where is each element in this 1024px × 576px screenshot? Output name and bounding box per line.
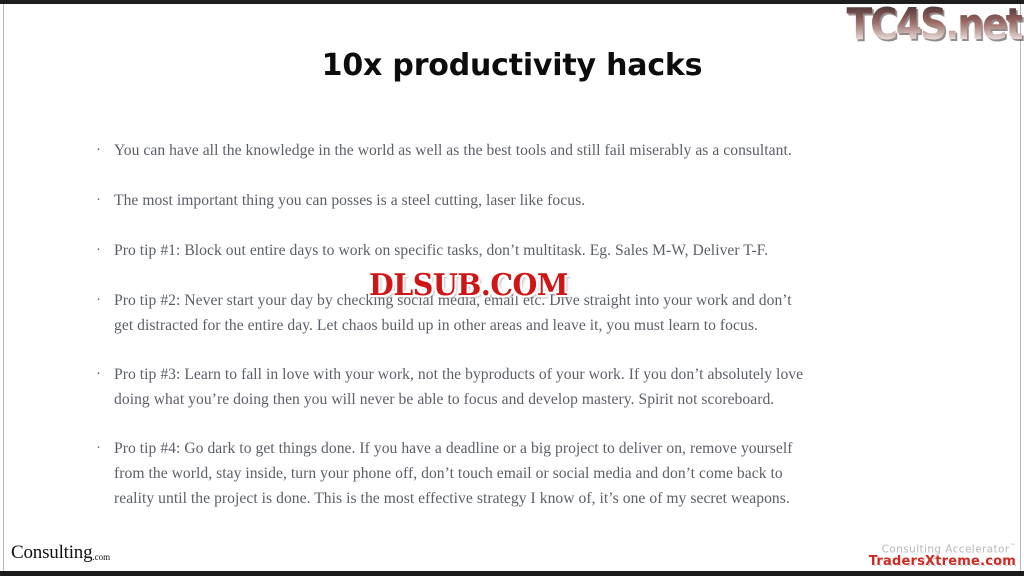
tc4s-watermark: TC4S.net xyxy=(847,2,1022,48)
list-item: · The most important thing you can posse… xyxy=(96,188,936,213)
consulting-dot-com-logo: Consulting.com xyxy=(11,542,110,564)
list-item: · Pro tip #1: Block out entire days to w… xyxy=(96,238,936,263)
presentation-slide: 10x productivity hacks · You can have al… xyxy=(0,0,1024,576)
bullet-dot-icon: · xyxy=(96,138,114,163)
bullet-list: · You can have all the knowledge in the … xyxy=(96,138,936,511)
list-item-text: The most important thing you can posses … xyxy=(114,188,936,213)
slide-left-rule xyxy=(3,4,4,571)
list-item: · Pro tip #3: Learn to fall in love with… xyxy=(96,362,936,412)
list-item-text: Pro tip #1: Block out entire days to wor… xyxy=(114,238,936,263)
list-item-line: from the world, stay inside, turn your p… xyxy=(114,461,936,486)
logo-word: Consulting xyxy=(11,542,92,563)
slide-bottom-bar xyxy=(0,571,1024,576)
spacer xyxy=(96,163,936,188)
list-item-text: You can have all the knowledge in the wo… xyxy=(114,138,936,163)
list-item-text: Pro tip #3: Learn to fall in love with y… xyxy=(114,362,936,412)
bullet-dot-icon: · xyxy=(96,288,114,313)
list-item-line: Pro tip #4: Go dark to get things done. … xyxy=(114,436,936,461)
list-item-line: reality until the project is done. This … xyxy=(114,486,936,511)
list-item-text: Pro tip #4: Go dark to get things done. … xyxy=(114,436,936,511)
tradersxtreme-watermark: TradersXtreme.com xyxy=(869,555,1016,569)
list-item: · You can have all the knowledge in the … xyxy=(96,138,936,163)
spacer xyxy=(96,338,936,362)
footer-right-block: Consulting Accelerator™ TradersXtreme.co… xyxy=(869,544,1016,569)
list-item-line: Pro tip #3: Learn to fall in love with y… xyxy=(114,362,936,387)
page-title: 10x productivity hacks xyxy=(0,48,1024,83)
list-item: · Pro tip #4: Go dark to get things done… xyxy=(96,436,936,511)
trademark-icon: ™ xyxy=(1010,543,1016,550)
bullet-dot-icon: · xyxy=(96,436,114,461)
bullet-dot-icon: · xyxy=(96,188,114,213)
spacer xyxy=(96,213,936,238)
dlsub-watermark: DLSUB.COM xyxy=(369,268,568,303)
bullet-dot-icon: · xyxy=(96,362,114,387)
list-item-line: doing what you’re doing then you will ne… xyxy=(114,387,936,412)
list-item-line: get distracted for the entire day. Let c… xyxy=(114,313,936,338)
bullet-dot-icon: · xyxy=(96,238,114,263)
logo-tld: .com xyxy=(92,552,110,562)
slide-right-rule xyxy=(1020,4,1021,571)
spacer xyxy=(96,412,936,436)
